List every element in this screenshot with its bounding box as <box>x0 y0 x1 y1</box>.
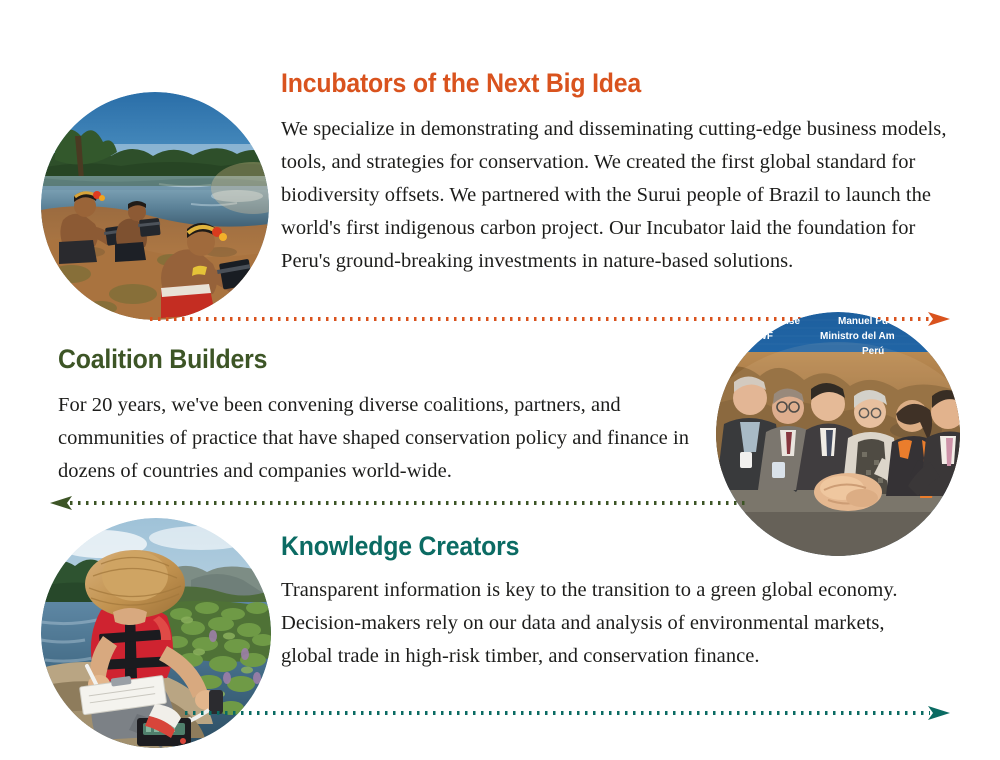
section-body-coalition: For 20 years, we've been convening diver… <box>58 389 718 488</box>
svg-text:WWF: WWF <box>748 331 773 342</box>
separator-teal-arrow-right <box>185 706 950 720</box>
section-body-incubators: We specialize in demonstrating and disse… <box>281 113 949 278</box>
infographic-canvas: Incubators of the Next Big Idea We speci… <box>0 0 1000 760</box>
section-heading-knowledge: Knowledge Creators <box>281 532 519 560</box>
section-heading-coalition: Coalition Builders <box>58 345 267 373</box>
photo-coalition: kabadse WWF Manuel Pu Ministro del Am Pe… <box>716 312 960 556</box>
separator-green-arrow-left <box>50 496 750 510</box>
section-body-knowledge: Transparent information is key to the tr… <box>281 574 929 673</box>
svg-text:Ministro del Am: Ministro del Am <box>820 331 895 342</box>
section-heading-incubators: Incubators of the Next Big Idea <box>281 69 641 97</box>
photo-incubators <box>41 92 269 320</box>
